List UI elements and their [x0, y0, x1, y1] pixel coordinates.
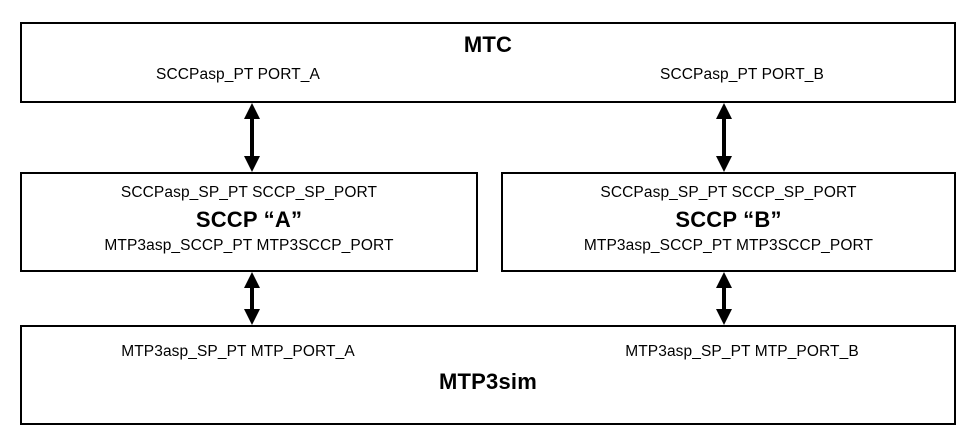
- node-mtp3sim-port-left: MTP3asp_SP_PT MTP_PORT_A: [78, 343, 398, 361]
- node-sccp-a-title: SCCP “A”: [22, 207, 476, 233]
- node-mtp3sim[interactable]: MTP3asp_SP_PT MTP_PORT_A MTP3asp_SP_PT M…: [20, 325, 956, 425]
- connector-sccp-b-to-mtp3sim: [712, 272, 736, 325]
- node-mtc-port-right: SCCPasp_PT PORT_B: [582, 66, 902, 84]
- node-sccp-a[interactable]: SCCPasp_SP_PT SCCP_SP_PORT SCCP “A” MTP3…: [20, 172, 478, 272]
- node-sccp-a-bottom-ports: MTP3asp_SCCP_PT MTP3SCCP_PORT: [22, 237, 476, 255]
- node-sccp-b[interactable]: SCCPasp_SP_PT SCCP_SP_PORT SCCP “B” MTP3…: [501, 172, 956, 272]
- node-sccp-b-title: SCCP “B”: [503, 207, 954, 233]
- connector-mtc-to-sccp-a: [240, 103, 264, 172]
- node-mtc[interactable]: MTC SCCPasp_PT PORT_A SCCPasp_PT PORT_B: [20, 22, 956, 103]
- node-sccp-b-top-ports: SCCPasp_SP_PT SCCP_SP_PORT: [503, 184, 954, 202]
- node-mtp3sim-port-right: MTP3asp_SP_PT MTP_PORT_B: [582, 343, 902, 361]
- diagram-canvas: MTC SCCPasp_PT PORT_A SCCPasp_PT PORT_B …: [0, 0, 976, 442]
- connector-sccp-a-to-mtp3sim: [240, 272, 264, 325]
- connector-mtc-to-sccp-b: [712, 103, 736, 172]
- node-mtp3sim-title: MTP3sim: [22, 369, 954, 395]
- node-mtc-port-left: SCCPasp_PT PORT_A: [78, 66, 398, 84]
- node-mtc-title: MTC: [22, 32, 954, 58]
- node-sccp-b-bottom-ports: MTP3asp_SCCP_PT MTP3SCCP_PORT: [503, 237, 954, 255]
- node-sccp-a-top-ports: SCCPasp_SP_PT SCCP_SP_PORT: [22, 184, 476, 202]
